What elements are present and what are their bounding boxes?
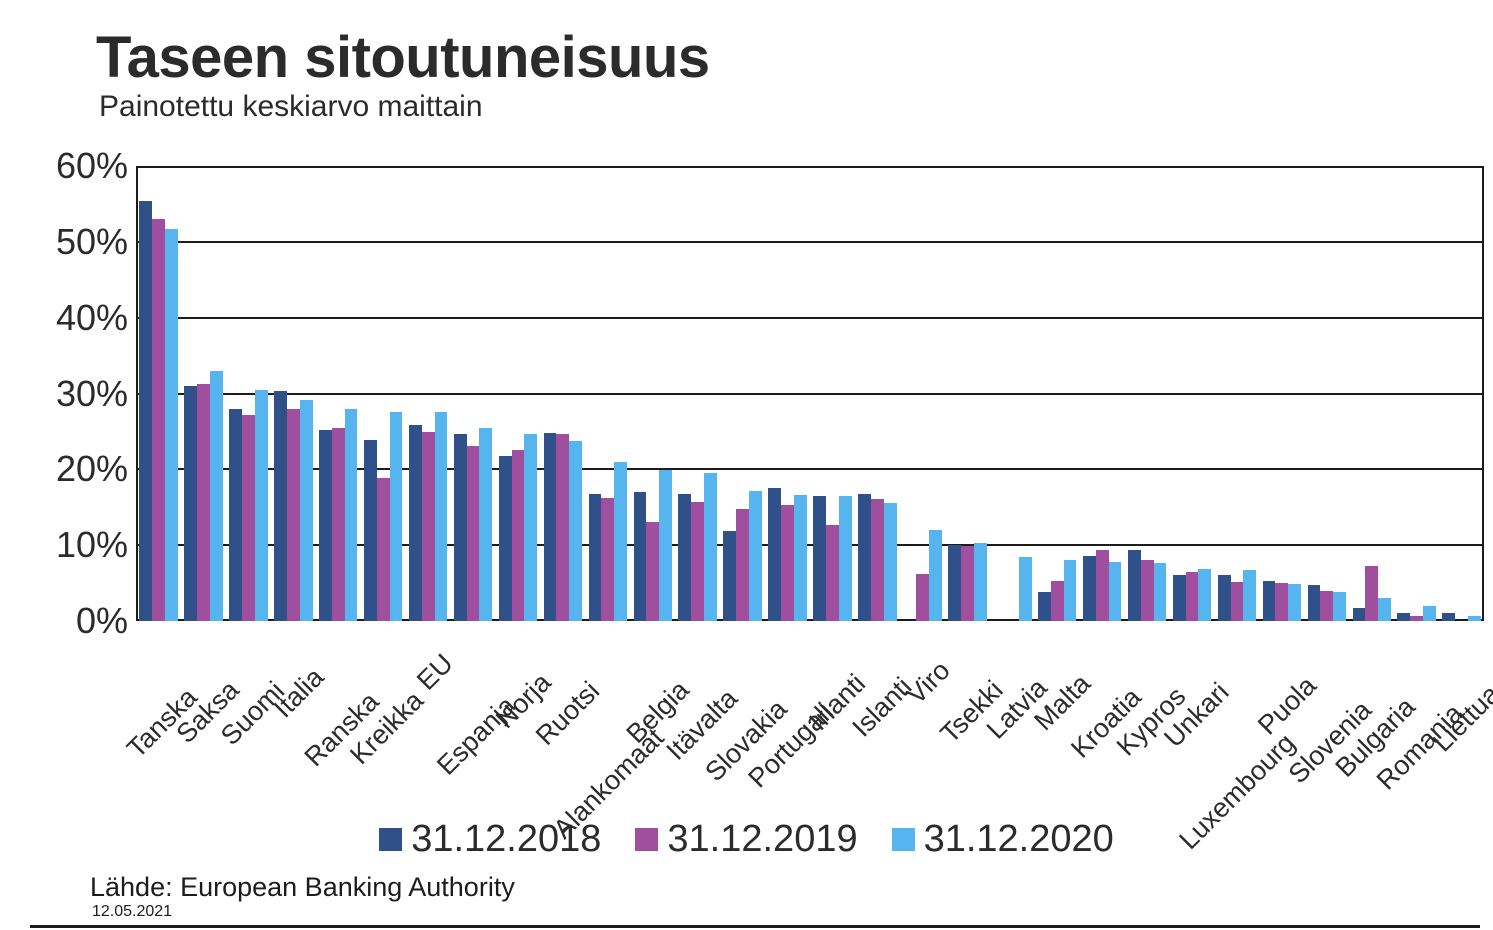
bar[interactable]	[332, 428, 345, 621]
bar[interactable]	[678, 494, 691, 621]
bar[interactable]	[242, 415, 255, 621]
bar[interactable]	[1333, 592, 1346, 621]
bar-series-layer	[136, 166, 1484, 621]
bar[interactable]	[646, 522, 659, 621]
bar[interactable]	[1186, 572, 1199, 621]
bar[interactable]	[1019, 557, 1032, 621]
bar[interactable]	[736, 509, 749, 621]
bar[interactable]	[839, 496, 852, 621]
bar[interactable]	[454, 434, 467, 621]
y-axis-tick-label: 20%	[10, 448, 128, 490]
bar-group[interactable]	[585, 166, 630, 621]
bar[interactable]	[1263, 581, 1276, 621]
bar[interactable]	[479, 428, 492, 621]
bar[interactable]	[1423, 606, 1436, 621]
bar[interactable]	[377, 478, 390, 621]
bar[interactable]	[274, 391, 287, 621]
bar-group[interactable]	[316, 166, 361, 621]
y-axis: 60%50%40%30%20%10%0%	[0, 166, 128, 621]
source-date: 12.05.2021	[92, 903, 172, 921]
bar[interactable]	[499, 456, 512, 621]
x-axis: TanskaSaksaSuomiItaliaRanskaKreikkaEUEsp…	[136, 623, 1484, 793]
bar-group[interactable]	[406, 166, 451, 621]
bar[interactable]	[139, 201, 152, 621]
bar-group[interactable]	[900, 166, 945, 621]
legend-item[interactable]: 31.12.2020	[892, 818, 1114, 861]
bar[interactable]	[1218, 575, 1231, 621]
bar-group[interactable]	[1304, 166, 1349, 621]
bar[interactable]	[1096, 550, 1109, 621]
bar[interactable]	[1308, 585, 1321, 621]
page-title: Taseen sitoutuneisuus	[96, 24, 710, 91]
legend-swatch-icon	[379, 828, 402, 851]
bar-group[interactable]	[1170, 166, 1215, 621]
bar-group[interactable]	[765, 166, 810, 621]
bar[interactable]	[569, 441, 582, 621]
bar[interactable]	[287, 409, 300, 621]
bar-group[interactable]	[1035, 166, 1080, 621]
legend-label: 31.12.2018	[411, 818, 601, 861]
bar[interactable]	[1231, 582, 1244, 621]
bar-group[interactable]	[226, 166, 271, 621]
bar[interactable]	[152, 219, 165, 621]
bar-group[interactable]	[1439, 166, 1484, 621]
bar[interactable]	[345, 409, 358, 621]
chart-legend: 31.12.201831.12.201931.12.2020	[0, 818, 1493, 861]
bar[interactable]	[1468, 616, 1481, 621]
bar-group[interactable]	[630, 166, 675, 621]
bar[interactable]	[948, 545, 961, 621]
y-axis-tick-label: 40%	[10, 297, 128, 339]
bar-group[interactable]	[361, 166, 406, 621]
x-axis-tick-label: Italia	[270, 663, 329, 722]
bar[interactable]	[197, 384, 210, 621]
bar-group[interactable]	[540, 166, 585, 621]
bar-group[interactable]	[1394, 166, 1439, 621]
bar[interactable]	[1243, 570, 1256, 621]
bar[interactable]	[1442, 613, 1455, 621]
bar[interactable]	[1288, 584, 1301, 621]
bar-group[interactable]	[181, 166, 226, 621]
chart-subtitle: Painotettu keskiarvo maittain	[99, 90, 483, 124]
bar[interactable]	[1083, 556, 1096, 621]
bar[interactable]	[1154, 563, 1167, 621]
bar[interactable]	[1275, 583, 1288, 621]
bar[interactable]	[300, 400, 313, 621]
y-axis-tick-label: 60%	[10, 145, 128, 187]
bar[interactable]	[1038, 592, 1051, 621]
x-axis-tick-label: EU	[413, 650, 459, 696]
x-axis-tick-label: Viro	[903, 657, 956, 710]
bar-group[interactable]	[1125, 166, 1170, 621]
bar[interactable]	[1365, 566, 1378, 621]
bar[interactable]	[1051, 581, 1064, 621]
bar[interactable]	[614, 462, 627, 621]
legend-swatch-icon	[892, 828, 915, 851]
bar[interactable]	[1141, 560, 1154, 621]
legend-item[interactable]: 31.12.2018	[379, 818, 601, 861]
bar-group[interactable]	[990, 166, 1035, 621]
bar-group[interactable]	[451, 166, 496, 621]
legend-item[interactable]: 31.12.2019	[635, 818, 857, 861]
bar[interactable]	[1353, 608, 1366, 621]
bar[interactable]	[409, 425, 422, 621]
y-axis-tick-label: 0%	[10, 600, 128, 642]
legend-swatch-icon	[635, 828, 658, 851]
bar-group[interactable]	[136, 166, 181, 621]
bar[interactable]	[1320, 591, 1333, 621]
source-note: Lähde: European Banking Authority	[90, 872, 515, 903]
bar[interactable]	[749, 491, 762, 621]
bar[interactable]	[813, 496, 826, 621]
bar[interactable]	[659, 470, 672, 621]
bar[interactable]	[884, 503, 897, 621]
bar-group[interactable]	[1080, 166, 1125, 621]
bar-group[interactable]	[810, 166, 855, 621]
bar[interactable]	[826, 525, 839, 621]
bar[interactable]	[165, 229, 178, 621]
bottom-divider	[30, 925, 1480, 928]
bar[interactable]	[601, 498, 614, 621]
bar-group[interactable]	[1215, 166, 1260, 621]
bar[interactable]	[858, 494, 871, 621]
bar[interactable]	[512, 450, 525, 621]
bar[interactable]	[319, 430, 332, 621]
bar[interactable]	[916, 574, 929, 621]
bar-group[interactable]	[675, 166, 720, 621]
chart-page: Taseen sitoutuneisuus Painotettu keskiar…	[0, 0, 1493, 930]
x-axis-tick-label: Puola	[1253, 672, 1321, 740]
bar-group[interactable]	[271, 166, 316, 621]
bar[interactable]	[422, 432, 435, 621]
bar[interactable]	[1378, 598, 1391, 622]
bar[interactable]	[723, 531, 736, 621]
bar[interactable]	[794, 495, 807, 621]
y-axis-tick-label: 30%	[10, 373, 128, 415]
bar[interactable]	[961, 546, 974, 621]
plot-area	[136, 166, 1484, 621]
bar[interactable]	[781, 505, 794, 621]
bar[interactable]	[1128, 550, 1141, 621]
bar[interactable]	[210, 371, 223, 621]
y-axis-tick-label: 10%	[10, 524, 128, 566]
bar[interactable]	[974, 543, 987, 621]
bar-group[interactable]	[720, 166, 765, 621]
bar[interactable]	[704, 473, 717, 621]
bar[interactable]	[556, 434, 569, 621]
bar[interactable]	[467, 446, 480, 621]
legend-label: 31.12.2020	[924, 818, 1114, 861]
bar[interactable]	[524, 434, 537, 621]
bar[interactable]	[390, 412, 403, 621]
bar[interactable]	[1397, 613, 1410, 621]
bar-group[interactable]	[496, 166, 541, 621]
bar[interactable]	[929, 530, 942, 621]
legend-label: 31.12.2019	[667, 818, 857, 861]
bar-group[interactable]	[1259, 166, 1304, 621]
bar[interactable]	[1109, 562, 1122, 621]
bar[interactable]	[255, 390, 268, 621]
bar[interactable]	[364, 440, 377, 621]
bar[interactable]	[435, 412, 448, 621]
bar[interactable]	[1198, 569, 1211, 621]
bar[interactable]	[871, 499, 884, 621]
bar[interactable]	[184, 386, 197, 621]
bar[interactable]	[229, 409, 242, 621]
bar-group[interactable]	[945, 166, 990, 621]
y-axis-tick-label: 50%	[10, 221, 128, 263]
bar[interactable]	[589, 494, 602, 621]
bar-group[interactable]	[1349, 166, 1394, 621]
bar[interactable]	[691, 502, 704, 621]
bar-group[interactable]	[855, 166, 900, 621]
bar[interactable]	[1410, 616, 1423, 621]
bar[interactable]	[1064, 560, 1077, 621]
bar[interactable]	[768, 488, 781, 621]
bar[interactable]	[634, 492, 647, 621]
bar[interactable]	[1173, 575, 1186, 621]
bar[interactable]	[544, 433, 557, 621]
